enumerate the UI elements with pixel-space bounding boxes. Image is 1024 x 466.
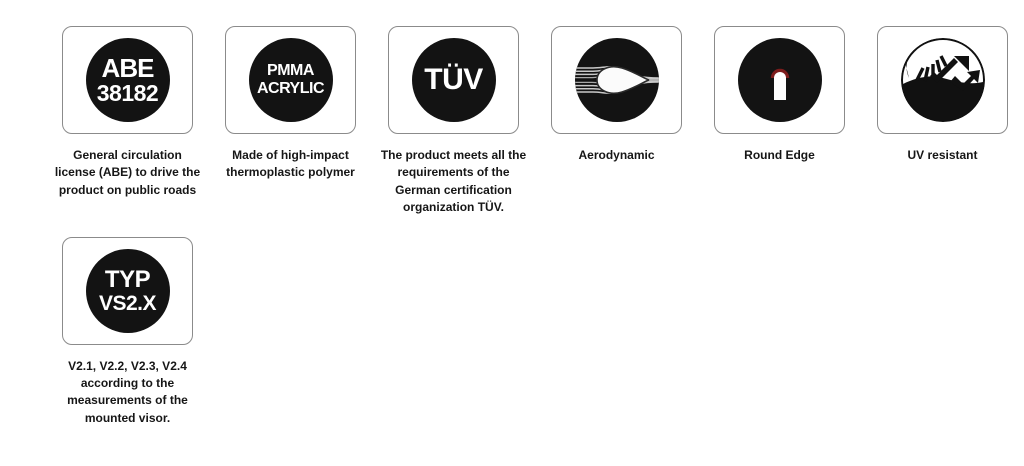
feature-caption: Aerodynamic <box>542 147 692 164</box>
feature-caption: General circulation license (ABE) to dri… <box>53 147 203 199</box>
pmma-acrylic-badge-icon: PMMA ACRYLIC <box>249 38 333 122</box>
badge-card-uv-resistant[interactable] <box>877 26 1008 134</box>
feature-caption: Made of high-impact thermoplastic polyme… <box>216 147 366 182</box>
feature-item-typ-vs2x[interactable]: TYP VS2.X V2.1, V2.2, V2.3, V2.4 accordi… <box>46 217 209 428</box>
badge-text-line: TYP <box>105 268 150 292</box>
badge-text-line: ACRYLIC <box>257 81 324 97</box>
feature-item-tuv[interactable]: TÜV The product meets all the requiremen… <box>372 0 535 217</box>
badge-text-line: ABE <box>102 55 154 81</box>
sun-uv-arrows-icon <box>901 38 985 122</box>
badge-card-tuv[interactable]: TÜV <box>388 26 519 134</box>
feature-item-aerodynamic[interactable]: Aerodynamic <box>535 0 698 217</box>
feature-item-uv-resistant[interactable]: UV resistant <box>861 0 1024 217</box>
badge-text-line: 38182 <box>97 82 158 105</box>
feature-caption: V2.1, V2.2, V2.3, V2.4 according to the … <box>53 358 203 428</box>
airfoil-streamlines-icon <box>575 38 659 122</box>
tuv-certification-badge-icon: TÜV <box>412 38 496 122</box>
badge-text-line: PMMA <box>267 63 314 79</box>
badge-text-line: VS2.X <box>99 293 156 314</box>
badge-card-aerodynamic[interactable] <box>551 26 682 134</box>
round-edge-profile-icon <box>738 38 822 122</box>
badge-card-typ-vs2x[interactable]: TYP VS2.X <box>62 237 193 345</box>
badge-card-pmma[interactable]: PMMA ACRYLIC <box>225 26 356 134</box>
feature-badge-grid: ABE 38182 General circulation license (A… <box>0 0 1024 427</box>
badge-text-line: TÜV <box>424 65 483 95</box>
feature-item-pmma[interactable]: PMMA ACRYLIC Made of high-impact thermop… <box>209 0 372 217</box>
typ-version-badge-icon: TYP VS2.X <box>86 249 170 333</box>
feature-item-abe[interactable]: ABE 38182 General circulation license (A… <box>46 0 209 217</box>
abe-approval-badge-icon: ABE 38182 <box>86 38 170 122</box>
badge-card-round-edge[interactable] <box>714 26 845 134</box>
badge-card-abe[interactable]: ABE 38182 <box>62 26 193 134</box>
feature-caption: The product meets all the requirements o… <box>379 147 529 217</box>
feature-caption: Round Edge <box>705 147 855 164</box>
feature-item-round-edge[interactable]: Round Edge <box>698 0 861 217</box>
feature-caption: UV resistant <box>868 147 1018 164</box>
